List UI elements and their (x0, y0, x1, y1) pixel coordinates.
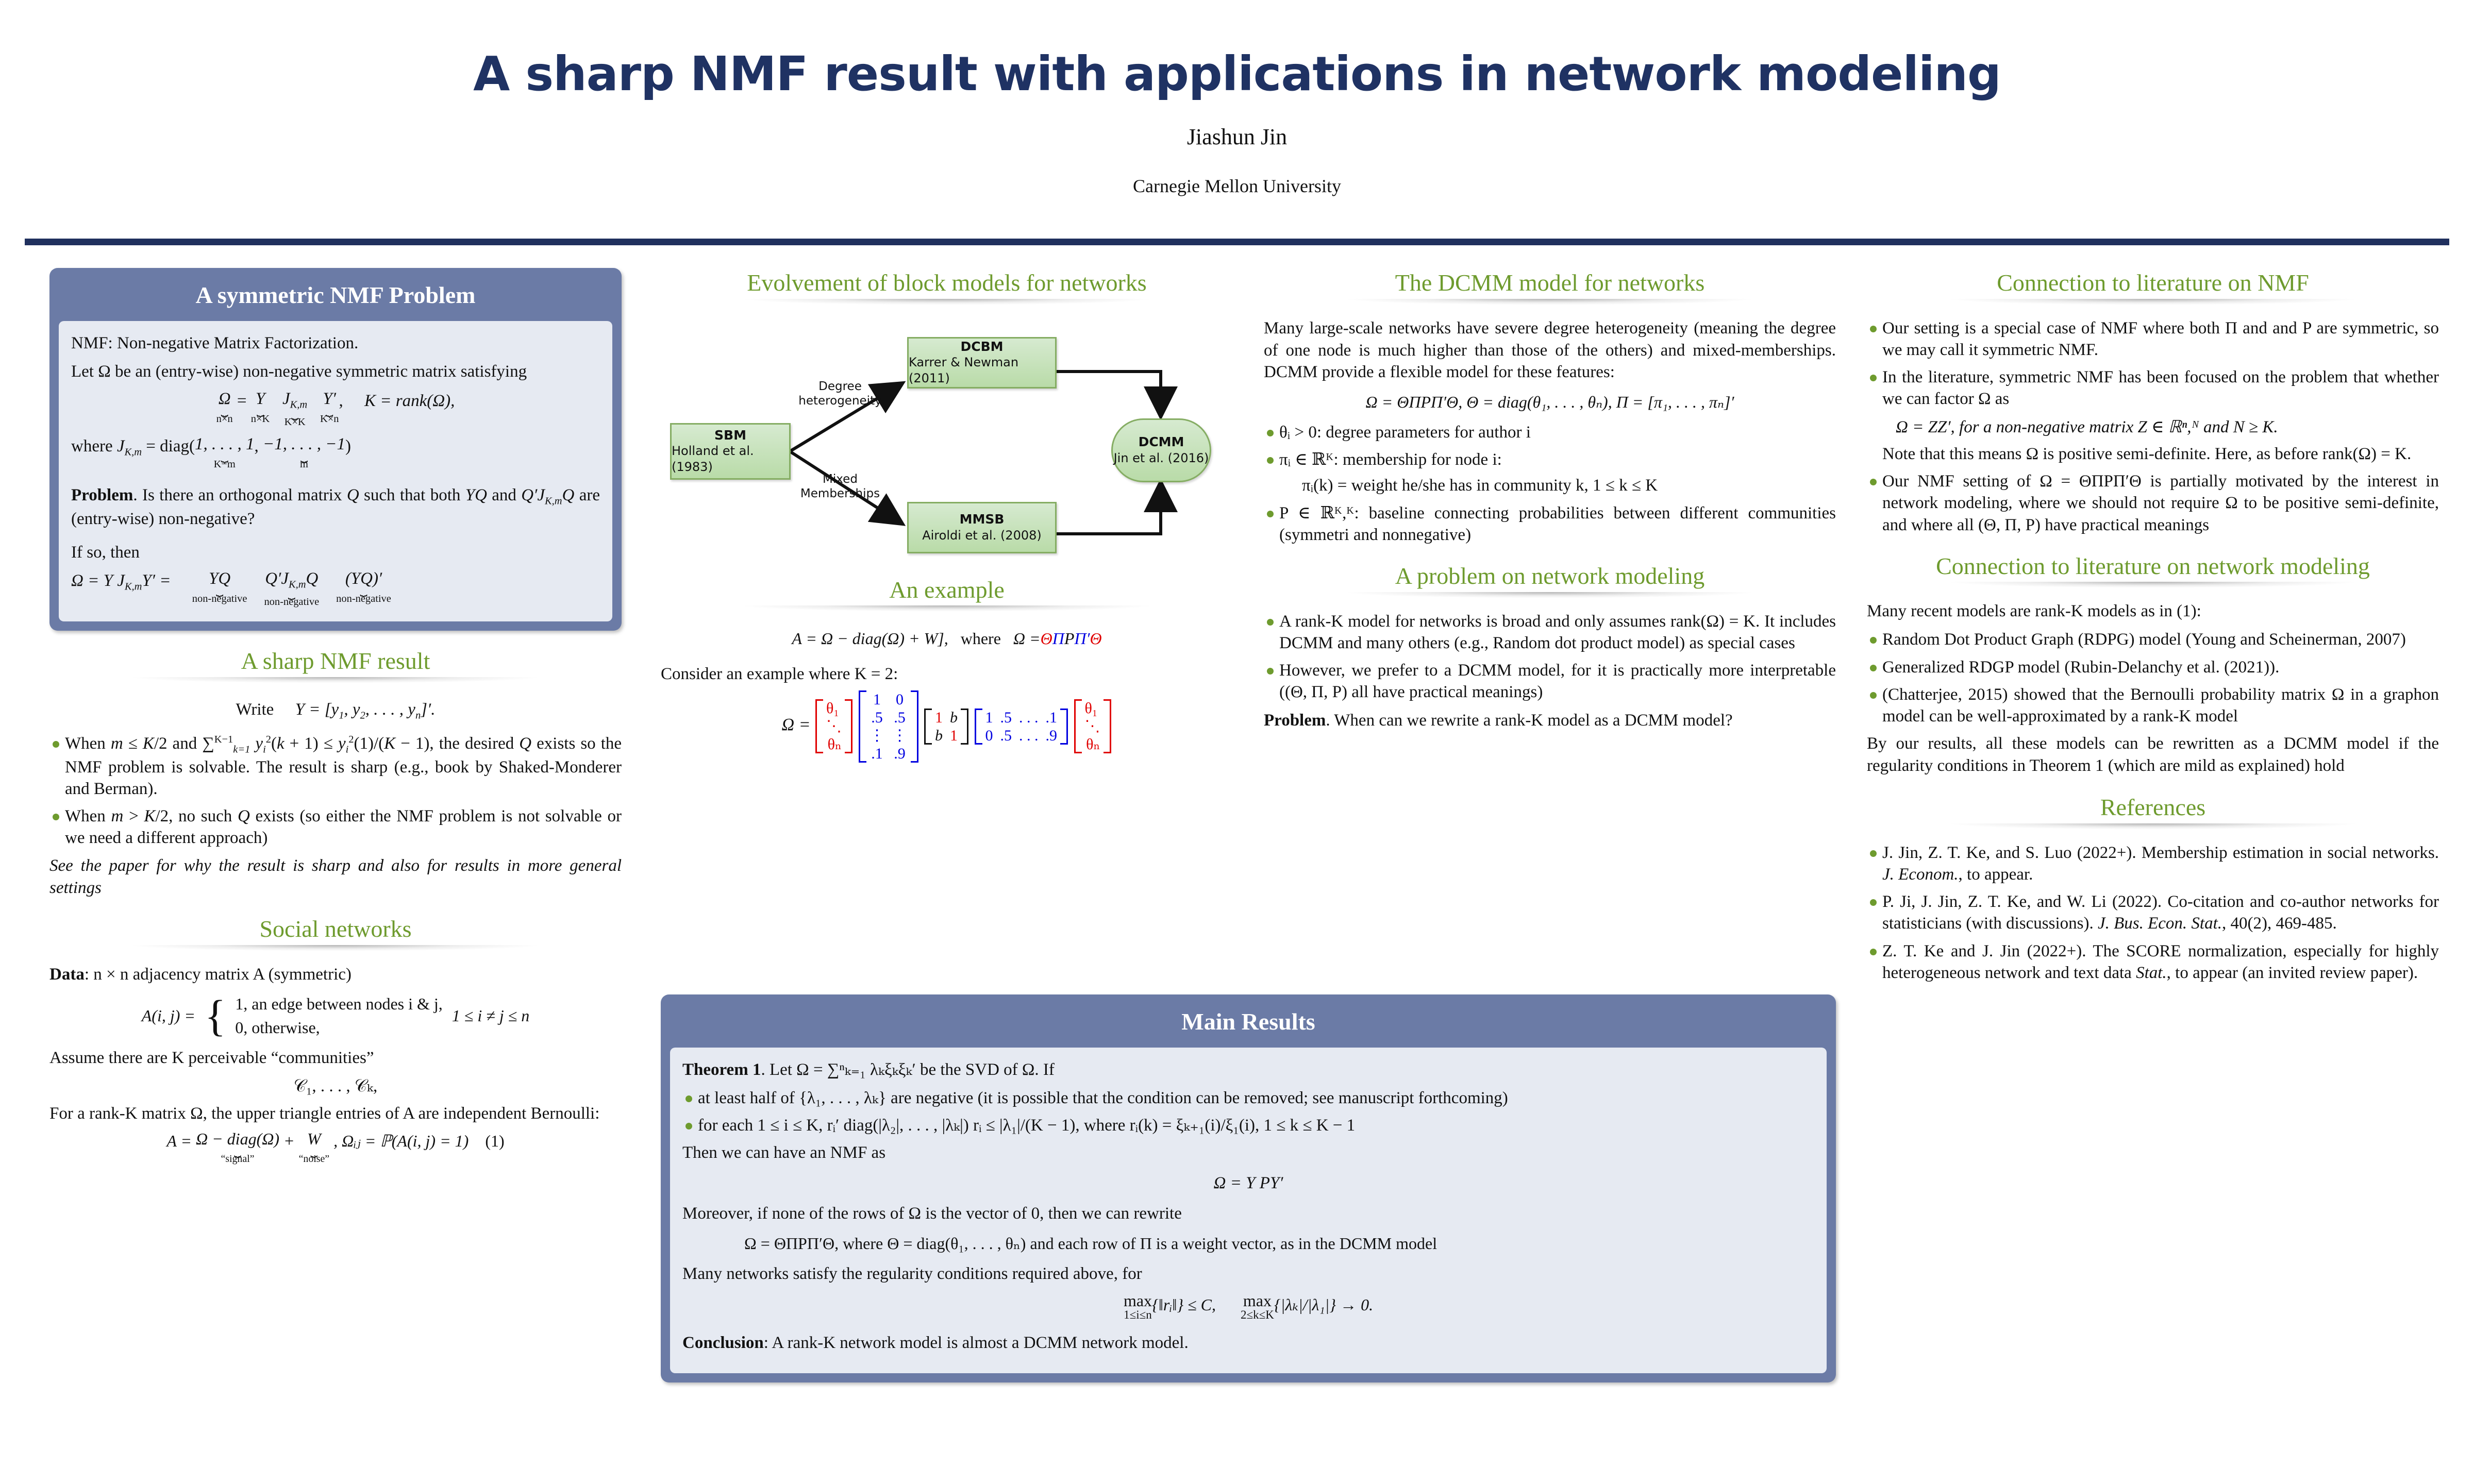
problem-bullets: A rank-K model for networks is broad and… (1264, 611, 1836, 703)
theorem-1: Theorem 1. Let Ω = ∑ⁿₖ₌₁ λₖξₖξₖ′ be the … (682, 1059, 1814, 1081)
title-underline (49, 945, 622, 958)
equation-adjacency-cases: A(i, j) = { 1, an edge between nodes i &… (49, 992, 622, 1040)
block-an-example: An example A = Ω − diag(Ω) + W], where Ω… (661, 575, 1233, 763)
equation-rewrite-dcmm: Ω = ΘΠPΠ′Θ, where Θ = diag(θ₁, . . . , θ… (682, 1233, 1814, 1255)
title-underline (1264, 592, 1836, 605)
node-dcmm: DCMM Jin et al. (2016) (1111, 418, 1211, 482)
affiliation: Carnegie Mellon University (0, 175, 2474, 197)
author-name: Jiashun Jin (0, 124, 2474, 150)
then-line: Then we can have an NMF as (682, 1142, 1814, 1164)
matrix-theta-left: θ₁ ⋱ θₙ (815, 699, 852, 753)
assume-communities: Assume there are K perceivable “communit… (49, 1047, 622, 1069)
if-so-line: If so, then (71, 542, 600, 564)
node-dcbm: DCBM Karrer & Newman (2011) (907, 337, 1057, 389)
equation-omega-matrices: Ω = θ₁ ⋱ θₙ 10 .5.5 ⋮⋮ .1.9 1b b1 (661, 690, 1233, 763)
net-lit-closing: By our results, all these models can be … (1867, 733, 2439, 777)
problem-label: Problem (71, 486, 133, 504)
block-title: A problem on network modeling (1264, 561, 1836, 589)
block-sharp-nmf-result: A sharp NMF result Write Y = [y1, y2, . … (49, 646, 622, 899)
list-item: Our setting is a special case of NMF whe… (1867, 317, 2439, 361)
consider-line: Consider an example where K = 2: (661, 663, 1233, 685)
list-item: Random Dot Product Graph (RDPG) model (Y… (1867, 629, 2439, 650)
block-dcmm-model: The DCMM model for networks Many large-s… (1264, 268, 1836, 546)
equation-number: (1) (485, 1132, 504, 1150)
block-body: Write Y = [y1, y2, . . . , yn]′. When m … (49, 699, 622, 899)
list-item: P ∈ ℝᴷ,ᴷ: baseline connecting probabilit… (1264, 502, 1836, 546)
block-social-networks: Social networks Data: n × n adjacency ma… (49, 914, 622, 1165)
column-4: Connection to literature on NMF Our sett… (1867, 268, 2439, 999)
dcmm-bullets: θᵢ > 0: degree parameters for author i π… (1264, 421, 1836, 546)
edge-label-mixed-memberships: Mixed Memberships (794, 472, 887, 502)
block-title: Evolvement of block models for networks (661, 268, 1233, 296)
column-1: A symmetric NMF Problem NMF: Non-negativ… (49, 268, 622, 1181)
list-item: πᵢ ∈ ℝᴷ: membership for node i: πᵢ(k) = … (1264, 449, 1836, 496)
column-2: Evolvement of block models for networks (661, 268, 1233, 778)
list-item: Generalized RDGP model (Rubin-Delanchy e… (1867, 656, 2439, 678)
problem-statement: Problem. Is there an orthogonal matrix Q… (71, 484, 600, 530)
matrix-pi: 10 .5.5 ⋮⋮ .1.9 (859, 690, 918, 763)
equation-omega-factorization: Ω⏟n×n = Y⏟n×K JK,m⏟K×K Y′⏟K×n, K = rank(… (71, 390, 600, 428)
block-body: A rank-K model for networks is broad and… (1264, 611, 1836, 732)
list-item: However, we prefer to a DCMM model, for … (1264, 660, 1836, 703)
list-item: θᵢ > 0: degree parameters for author i (1264, 421, 1836, 443)
nmf-setup: Let Ω be an (entry-wise) non-negative sy… (71, 361, 600, 383)
matrix-pi-transpose: 1.5. . ..1 0.5. . ..9 (975, 709, 1068, 745)
nmf-literature-bullets: Our setting is a special case of NMF whe… (1867, 317, 2439, 536)
list-item: P. Ji, J. Jin, Z. T. Ke, and W. Li (2022… (1867, 891, 2439, 934)
block-body: Data: n × n adjacency matrix A (symmetri… (49, 964, 622, 1165)
title-underline (1867, 823, 2439, 837)
matrix-theta-right: θ₁ ⋱ θₙ (1074, 699, 1111, 753)
matrix-P: 1b b1 (924, 709, 968, 745)
dcmm-paragraph: Many large-scale networks have severe de… (1264, 317, 1836, 384)
rank-condition: K = rank(Ω), (364, 392, 455, 410)
block-title: An example (661, 575, 1233, 603)
reference-list: J. Jin, Z. T. Ke, and S. Luo (2022+). Me… (1867, 842, 2439, 984)
case-no-edge: 0, otherwise, (235, 1016, 443, 1039)
block-title: References (1867, 792, 2439, 820)
block-title: A symmetric NMF Problem (49, 268, 622, 321)
conclusion: Conclusion: A rank-K network model is al… (682, 1332, 1814, 1354)
case-edge: 1, an edge between nodes i & j, (235, 992, 443, 1016)
theorem-conditions: at least half of {λ₁, . . . , λₖ} are ne… (682, 1087, 1814, 1136)
column-3: The DCMM model for networks Many large-s… (1264, 268, 1836, 747)
edge-mmsb-dcmm (1056, 487, 1161, 534)
title-underline (1264, 299, 1836, 312)
data-label: Data (49, 965, 85, 984)
block-main-results: Main Results Theorem 1. Let Ω = ∑ⁿₖ₌₁ λₖ… (661, 994, 1836, 1382)
title-underline (1867, 582, 2439, 595)
block-title: A sharp NMF result (49, 646, 622, 674)
block-symmetric-nmf-problem: A symmetric NMF Problem NMF: Non-negativ… (49, 268, 622, 631)
membership-weight-line: πᵢ(k) = weight he/she has in community k… (1302, 475, 1836, 496)
title-underline (661, 605, 1233, 619)
list-item: for each 1 ≤ i ≤ K, rᵢ′ diag(|λ₂|, . . .… (682, 1115, 1814, 1136)
nmf-definition: NMF: Non-negative Matrix Factorization. (71, 332, 600, 355)
equation-regularity: max 1≤i≤n {‖rᵢ‖} ≤ C, max 2≤k≤K {|λₖ|/|λ… (682, 1292, 1814, 1321)
title-underline (49, 677, 622, 690)
node-mmsb: MMSB Airoldi et al. (2008) (907, 502, 1057, 553)
block-title: Connection to literature on NMF (1867, 268, 2439, 296)
block-body: A = Ω − diag(Ω) + W], where Ω =ΘΠPΠ′Θ Co… (661, 628, 1233, 762)
sharp-result-footnote: See the paper for why the result is shar… (49, 855, 622, 899)
communities-list: 𝒞₁, . . . , 𝒞ₖ, (49, 1075, 622, 1098)
page-title: A sharp NMF result with applications in … (0, 46, 2474, 102)
theorem-label: Theorem 1 (682, 1060, 761, 1079)
block-title: Social networks (49, 914, 622, 942)
list-item: J. Jin, Z. T. Ke, and S. Luo (2022+). Me… (1867, 842, 2439, 885)
block-body: Many large-scale networks have severe de… (1264, 317, 1836, 546)
edge-label-degree-heterogeneity: Degree heterogeneity (794, 379, 887, 409)
block-connection-nmf-literature: Connection to literature on NMF Our sett… (1867, 268, 2439, 536)
list-item: When m ≤ K/2 and ∑K−1k=1 yi2(k + 1) ≤ yi… (49, 733, 622, 800)
block-body: J. Jin, Z. T. Ke, and S. Luo (2022+). Me… (1867, 842, 2439, 984)
block-problem-network-modeling: A problem on network modeling A rank-K m… (1264, 561, 1836, 732)
equation-A-omega: A = Ω − diag(Ω) + W], where Ω =ΘΠPΠ′Θ (661, 628, 1233, 650)
list-item: Our NMF setting of Ω = ΘΠPΠ′Θ is partial… (1867, 470, 2439, 536)
conclusion-label: Conclusion (682, 1334, 764, 1352)
list-item: When m > K/2, no such Q exists (so eithe… (49, 805, 622, 849)
index-range: 1 ≤ i ≠ j ≤ n (452, 1005, 529, 1027)
equation-dcmm: Ω = ΘΠPΠ′Θ, Θ = diag(θ₁, . . . , θₙ), Π … (1264, 392, 1836, 413)
block-body: NMF: Non-negative Matrix Factorization. … (59, 321, 612, 621)
net-lit-intro: Many recent models are rank-K models as … (1867, 600, 2439, 622)
block-body: Our setting is a special case of NMF whe… (1867, 317, 2439, 536)
sharp-result-bullets: When m ≤ K/2 and ∑K−1k=1 yi2(k + 1) ≤ yi… (49, 733, 622, 849)
bernoulli-line: For a rank-K matrix Ω, the upper triangl… (49, 1103, 622, 1125)
list-item: (Chatterjee, 2015) showed that the Berno… (1867, 684, 2439, 727)
block-references: References J. Jin, Z. T. Ke, and S. Luo … (1867, 792, 2439, 984)
list-item: A rank-K model for networks is broad and… (1264, 611, 1836, 654)
list-item: at least half of {λ₁, . . . , λₖ} are ne… (682, 1087, 1814, 1109)
block-title: Connection to literature on network mode… (1867, 551, 2439, 579)
node-sbm: SBM Holland et al. (1983) (670, 423, 791, 480)
block-evolvement-block-models: Evolvement of block models for networks (661, 268, 1233, 560)
equation-J-definition: where JK,m = diag(1, . . . , 1⏟K−m, −1, … (71, 435, 600, 471)
block-body: Many recent models are rank-K models as … (1867, 600, 2439, 777)
problem-statement: Problem. When can we rewrite a rank-K mo… (1264, 710, 1836, 732)
write-Y-equation: Write Y = [y1, y2, . . . , yn]′. (49, 699, 622, 722)
moreover-line: Moreover, if none of the rows of Ω is th… (682, 1203, 1814, 1225)
block-title: Main Results (661, 994, 1836, 1048)
block-body: Theorem 1. Let Ω = ∑ⁿₖ₌₁ λₖξₖξₖ′ be the … (670, 1048, 1827, 1373)
equation-nmf: Ω = Y PY′ (682, 1172, 1814, 1194)
block-models-diagram: SBM Holland et al. (1983) DCBM Karrer & … (661, 317, 1233, 560)
header-divider (25, 239, 2449, 245)
psd-note: Note that this means Ω is positive semi-… (1882, 443, 2439, 465)
equation-nonneg-decomposition: Ω = Y JK,mY′ = YQ⏟non-negative Q′JK,mQ⏟n… (71, 570, 600, 608)
many-networks-line: Many networks satisfy the regularity con… (682, 1263, 1814, 1285)
list-item: Z. T. Ke and J. Jin (2022+). The SCORE n… (1867, 940, 2439, 984)
problem-label: Problem (1264, 711, 1326, 730)
equation-1-signal-noise: A = Ω − diag(Ω)⏟“signal” + W⏟“noise” , Ω… (49, 1131, 622, 1165)
title-underline (1867, 299, 2439, 312)
block-title: The DCMM model for networks (1264, 268, 1836, 296)
list-item: In the literature, symmetric NMF has bee… (1867, 366, 2439, 465)
title-underline (661, 299, 1233, 312)
data-line: Data: n × n adjacency matrix A (symmetri… (49, 964, 622, 986)
edge-dcbm-dcmm (1056, 372, 1161, 411)
equation-ZZ: Ω = ZZ′, for a non-negative matrix Z ∈ ℝ… (1896, 416, 2439, 438)
net-literature-bullets: Random Dot Product Graph (RDPG) model (Y… (1867, 629, 2439, 727)
block-connection-network-literature: Connection to literature on network mode… (1867, 551, 2439, 777)
